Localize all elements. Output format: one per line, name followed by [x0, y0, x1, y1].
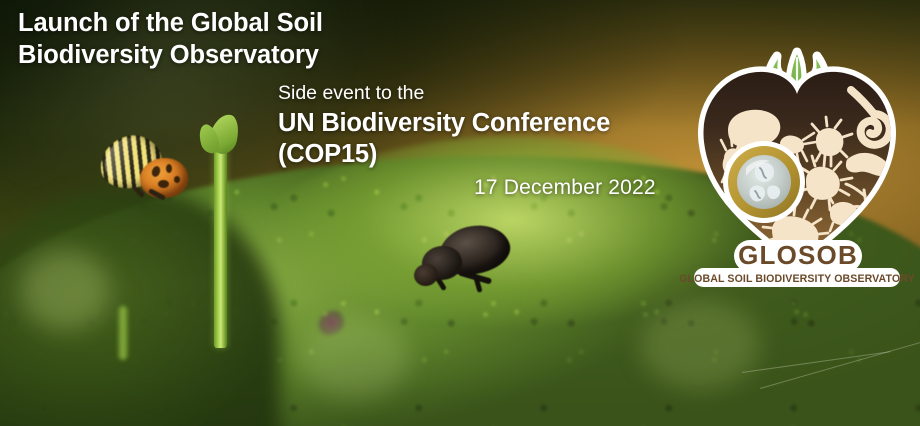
logo-acronym: GLOSOB — [738, 240, 858, 270]
green-seedling — [196, 108, 242, 348]
colorado-potato-beetle — [96, 126, 192, 212]
bokeh-blob — [20, 250, 110, 330]
logo-fullname-banner: GLOBAL SOIL BIODIVERSITY OBSERVATORY — [679, 268, 915, 287]
banner-title-line2: Biodiversity Observatory — [18, 40, 438, 72]
event-banner: Launch of the Global Soil Biodiversity O… — [0, 0, 920, 426]
subtitle-main-line2: (COP15) — [278, 139, 698, 170]
logo-fullname: GLOBAL SOIL BIODIVERSITY OBSERVATORY — [679, 273, 915, 285]
logo-acronym-banner: GLOSOB — [734, 240, 862, 272]
banner-title-line1: Launch of the Global Soil — [18, 8, 438, 40]
glosob-logo[interactable]: GLOSOB GLOBAL SOIL BIODIVERSITY OBSERVAT… — [688, 18, 906, 286]
seedling-stem — [214, 134, 227, 348]
subtitle-lead: Side event to the — [278, 82, 424, 105]
dark-beetle — [412, 224, 522, 300]
bokeh-blob — [640, 300, 760, 390]
bokeh-blob — [300, 318, 410, 398]
beetle-spot — [174, 176, 180, 183]
subtitle-main: UN Biodiversity Conference (COP15) — [278, 108, 698, 170]
beetle-spot — [158, 180, 169, 188]
small-sprout — [118, 306, 128, 360]
event-date: 17 December 2022 — [474, 176, 656, 200]
banner-title: Launch of the Global Soil Biodiversity O… — [18, 8, 438, 71]
subtitle-main-line1: UN Biodiversity Conference — [278, 108, 698, 139]
beetle-spot — [166, 164, 172, 173]
